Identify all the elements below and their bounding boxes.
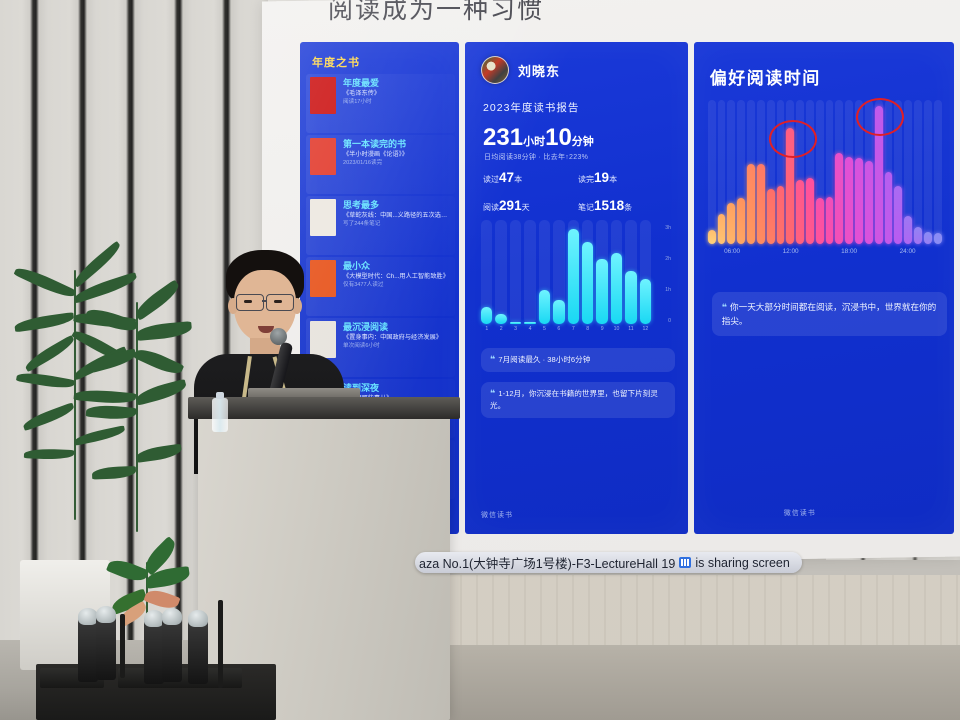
month-bar bbox=[582, 242, 593, 324]
book-meta: 阅读17小时 bbox=[343, 98, 451, 107]
hour-tick-label: 24:00 bbox=[900, 248, 916, 255]
mic-head bbox=[144, 610, 164, 627]
stat-value: 47 bbox=[499, 170, 514, 185]
month-bar bbox=[640, 279, 651, 324]
hour-bar-track bbox=[845, 100, 853, 244]
month-bar-track bbox=[611, 220, 622, 324]
month-tick-label: 6 bbox=[553, 326, 564, 338]
month-bar-track bbox=[640, 220, 651, 324]
monthly-bars bbox=[481, 220, 651, 324]
month-bar-track bbox=[568, 220, 579, 324]
stat-grid: 读过47本读完19本阅读291天笔记1518条 bbox=[483, 170, 673, 213]
hour-bar-track bbox=[816, 100, 824, 244]
month-y-tick-label: 1h bbox=[665, 287, 671, 293]
hour-bar bbox=[894, 186, 902, 244]
hourly-chart: 06:0012:0018:0024:00 bbox=[708, 100, 942, 260]
highlight-noon-peak bbox=[769, 120, 817, 158]
profile-watermark: 微信读书 bbox=[481, 510, 513, 520]
total-reading-time: 231小时10分钟 bbox=[483, 124, 594, 152]
month-y-tick-label: 0 bbox=[668, 318, 671, 324]
hour-bar-track bbox=[737, 100, 745, 244]
hours-unit: 小时 bbox=[523, 136, 545, 148]
hour-bar bbox=[806, 178, 814, 244]
avatar bbox=[481, 56, 509, 84]
hour-bar-track bbox=[924, 100, 932, 244]
slide-title: 阅读成为一种习惯 bbox=[328, 0, 544, 26]
book-row[interactable]: 思考最多《草蛇灰线：中国...义路径的五次选择》写了244条笔记 bbox=[306, 196, 455, 255]
hour-bar bbox=[718, 214, 726, 244]
wireless-microphone bbox=[96, 616, 116, 680]
hour-bar bbox=[796, 180, 804, 244]
report-title: 2023年度读书报告 bbox=[483, 100, 579, 115]
screen-share-icon bbox=[679, 557, 691, 568]
hour-bar-column bbox=[845, 100, 853, 244]
profile-panel: 刘晓东 2023年度读书报告 231小时10分钟 日均阅读38分钟 · 比去年↑… bbox=[465, 42, 688, 534]
month-bar-track bbox=[524, 220, 535, 324]
book-name: 《毛泽东传》 bbox=[343, 89, 451, 98]
hour-bar bbox=[708, 230, 716, 244]
mic-stand bbox=[218, 600, 223, 688]
stat-item: 笔记1518条 bbox=[578, 198, 673, 213]
stat-value: 19 bbox=[594, 170, 609, 185]
hour-bar-column bbox=[904, 100, 912, 244]
hour-bar-column bbox=[914, 100, 922, 244]
total-hours-value: 231 bbox=[483, 124, 523, 151]
hour-bar-column bbox=[816, 100, 824, 244]
month-bar bbox=[596, 259, 607, 324]
month-bar-track bbox=[596, 220, 607, 324]
stat-item: 读完19本 bbox=[578, 170, 673, 185]
book-award-title: 思考最多 bbox=[343, 200, 451, 211]
time-panel: 偏好阅读时间 06:0012:0018:0024:00 ❝你一天大部分时间都在阅… bbox=[694, 42, 954, 534]
hour-bar-column bbox=[737, 100, 745, 244]
hour-bar bbox=[865, 161, 873, 244]
hour-bar bbox=[835, 153, 843, 244]
hour-bar-column bbox=[727, 100, 735, 244]
wireless-microphone bbox=[78, 618, 98, 682]
quote-year-summary: ❝1-12月，你沉浸在书籍的世界里，也留下片刻灵光。 bbox=[481, 382, 675, 418]
hour-bar-column bbox=[924, 100, 932, 244]
stat-label: 读完 bbox=[578, 175, 594, 184]
hour-bar-track bbox=[934, 100, 942, 244]
hour-bar-column bbox=[757, 100, 765, 244]
hour-bar-track bbox=[708, 100, 716, 244]
mic-head bbox=[188, 610, 208, 627]
monthly-y-axis: 3h2h1h0 bbox=[653, 220, 673, 324]
stat-unit: 条 bbox=[624, 203, 632, 212]
hour-bar bbox=[737, 198, 745, 244]
month-bar bbox=[524, 322, 535, 324]
hour-bar bbox=[757, 164, 765, 244]
hour-bar bbox=[934, 233, 942, 244]
stat-unit: 本 bbox=[514, 175, 522, 184]
hour-bar-track bbox=[904, 100, 912, 244]
wireless-microphone bbox=[162, 618, 182, 682]
quote-mark-icon: ❝ bbox=[490, 354, 495, 364]
wood-paneling bbox=[430, 575, 960, 645]
screen-share-banner[interactable]: aza No.1(大钟寺广场1号楼)-F3-LectureHall 19 is … bbox=[415, 552, 802, 573]
month-bar-track bbox=[510, 220, 521, 324]
hour-bar bbox=[747, 164, 755, 244]
hour-bar bbox=[777, 186, 785, 244]
book-award-title: 第一本读完的书 bbox=[343, 139, 451, 150]
quote-mark-icon: ❝ bbox=[490, 388, 495, 398]
stat-unit: 天 bbox=[522, 203, 530, 212]
stat-label: 阅读 bbox=[483, 203, 499, 212]
month-y-tick-label: 2h bbox=[665, 256, 671, 262]
hour-bar-column bbox=[718, 100, 726, 244]
book-name: 《草蛇灰线：中国...义路径的五次选择》 bbox=[343, 211, 451, 220]
hour-tick-label: 12:00 bbox=[783, 248, 799, 255]
stat-value: 291 bbox=[499, 198, 522, 213]
water-bottle bbox=[212, 398, 228, 432]
month-bar bbox=[481, 307, 492, 324]
month-bar-track bbox=[539, 220, 550, 324]
month-bar bbox=[539, 290, 550, 324]
books-panel-heading: 年度之书 bbox=[312, 54, 360, 70]
hourly-bars bbox=[708, 100, 942, 244]
hour-bar-column bbox=[747, 100, 755, 244]
hour-bar bbox=[924, 232, 932, 244]
photo-scene: 阅读成为一种习惯 年度之书 年度最爱《毛泽东传》阅读17小时第一本读完的书《半小… bbox=[0, 0, 960, 720]
month-bar bbox=[510, 322, 521, 324]
book-award-title: 年度最爱 bbox=[343, 78, 451, 89]
month-bar-track bbox=[625, 220, 636, 324]
quote-longest-month-text: 7月阅读最久 · 38小时6分钟 bbox=[498, 355, 590, 364]
highlight-evening-peak bbox=[856, 98, 904, 136]
book-cover bbox=[310, 199, 336, 236]
user-name: 刘晓东 bbox=[518, 61, 560, 80]
hour-bar-track bbox=[835, 100, 843, 244]
hour-tick-label: 06:00 bbox=[724, 248, 740, 255]
hour-bar bbox=[885, 172, 893, 244]
month-bar bbox=[611, 253, 622, 324]
hourly-x-axis: 06:0012:0018:0024:00 bbox=[708, 246, 942, 260]
book-cover bbox=[310, 77, 336, 114]
hour-tick-label: 18:00 bbox=[841, 248, 857, 255]
mic-head bbox=[78, 608, 98, 625]
quote-year-summary-text: 1-12月，你沉浸在书籍的世界里，也留下片刻灵光。 bbox=[490, 389, 658, 410]
mic-head bbox=[96, 606, 116, 623]
hour-bar-track bbox=[757, 100, 765, 244]
hour-bar-track bbox=[826, 100, 834, 244]
hour-bar-track bbox=[727, 100, 735, 244]
month-bar-track bbox=[481, 220, 492, 324]
quote-mark-icon: ❝ bbox=[722, 302, 727, 312]
hour-bar bbox=[727, 203, 735, 244]
time-panel-watermark: 微信读书 bbox=[784, 508, 816, 518]
stat-value: 1518 bbox=[594, 198, 624, 213]
hour-bar-track bbox=[806, 100, 814, 244]
podium-top-surface bbox=[188, 397, 460, 419]
share-banner-source: aza No.1(大钟寺广场1号楼)-F3-LectureHall 19 bbox=[419, 553, 675, 572]
month-bar bbox=[553, 300, 564, 324]
hour-bar-track bbox=[767, 100, 775, 244]
hour-bar bbox=[855, 158, 863, 244]
minutes-unit: 分钟 bbox=[572, 136, 594, 148]
hour-bar-column bbox=[806, 100, 814, 244]
hour-bar bbox=[845, 157, 853, 244]
hour-bar bbox=[816, 198, 824, 244]
hour-bar-column bbox=[934, 100, 942, 244]
stat-item: 读过47本 bbox=[483, 170, 578, 185]
wireless-microphone bbox=[144, 620, 164, 684]
month-tick-label: 12 bbox=[640, 326, 651, 338]
month-tick-label: 5 bbox=[539, 326, 550, 338]
stat-label: 笔记 bbox=[578, 203, 594, 212]
stat-unit: 本 bbox=[609, 175, 617, 184]
profile-header: 刘晓东 bbox=[481, 56, 560, 84]
quote-longest-month: ❝7月阅读最久 · 38小时6分钟 bbox=[481, 348, 675, 372]
hour-bar bbox=[767, 189, 775, 244]
time-panel-heading: 偏好阅读时间 bbox=[710, 64, 821, 89]
month-tick-label: 7 bbox=[568, 326, 579, 338]
hour-bar bbox=[904, 216, 912, 244]
month-bar bbox=[495, 314, 506, 324]
month-tick-label: 8 bbox=[582, 326, 593, 338]
month-bar bbox=[625, 271, 636, 324]
share-banner-suffix: is sharing screen bbox=[695, 556, 790, 570]
month-tick-label: 11 bbox=[625, 326, 636, 338]
month-bar-track bbox=[582, 220, 593, 324]
stat-item: 阅读291天 bbox=[483, 198, 578, 213]
book-row[interactable]: 第一本读完的书《半小时漫画《论语》》2023/01/16读完 bbox=[306, 135, 455, 194]
hour-bar-column bbox=[835, 100, 843, 244]
monthly-chart: 3h2h1h0 123456789101112 bbox=[481, 220, 673, 338]
time-panel-quote: ❝你一天大部分时间都在阅读，沉浸书中，世界就在你的指尖。 bbox=[712, 292, 947, 336]
month-y-tick-label: 3h bbox=[665, 225, 671, 231]
hour-bar-column bbox=[826, 100, 834, 244]
month-bar bbox=[568, 229, 579, 324]
month-tick-label: 1 bbox=[481, 326, 492, 338]
book-cover bbox=[310, 138, 336, 175]
month-tick-label: 9 bbox=[596, 326, 607, 338]
month-tick-label: 3 bbox=[510, 326, 521, 338]
mic-stand bbox=[120, 614, 125, 678]
lower-wall-band bbox=[430, 645, 960, 720]
daily-average-subtitle: 日均阅读38分钟 · 比去年↑223% bbox=[484, 152, 588, 162]
hour-bar bbox=[826, 197, 834, 244]
book-meta: 写了244条笔记 bbox=[343, 220, 451, 229]
hour-bar-column bbox=[767, 100, 775, 244]
hour-bar-column bbox=[708, 100, 716, 244]
month-bar-track bbox=[495, 220, 506, 324]
hour-bar-track bbox=[718, 100, 726, 244]
month-tick-label: 10 bbox=[611, 326, 622, 338]
hour-bar-track bbox=[914, 100, 922, 244]
hour-bar bbox=[914, 227, 922, 244]
total-minutes-value: 10 bbox=[545, 124, 572, 151]
mic-head bbox=[162, 608, 182, 625]
hour-bar-track bbox=[747, 100, 755, 244]
book-meta: 2023/01/16读完 bbox=[343, 159, 451, 168]
month-bar-track bbox=[553, 220, 564, 324]
month-tick-label: 4 bbox=[524, 326, 535, 338]
monthly-x-axis: 123456789101112 bbox=[481, 326, 651, 338]
book-row[interactable]: 年度最爱《毛泽东传》阅读17小时 bbox=[306, 74, 455, 133]
book-name: 《半小时漫画《论语》》 bbox=[343, 150, 451, 159]
month-tick-label: 2 bbox=[495, 326, 506, 338]
stat-label: 读过 bbox=[483, 175, 499, 184]
time-panel-quote-text: 你一天大部分时间都在阅读，沉浸书中，世界就在你的指尖。 bbox=[722, 302, 937, 326]
wireless-microphone bbox=[188, 620, 208, 684]
